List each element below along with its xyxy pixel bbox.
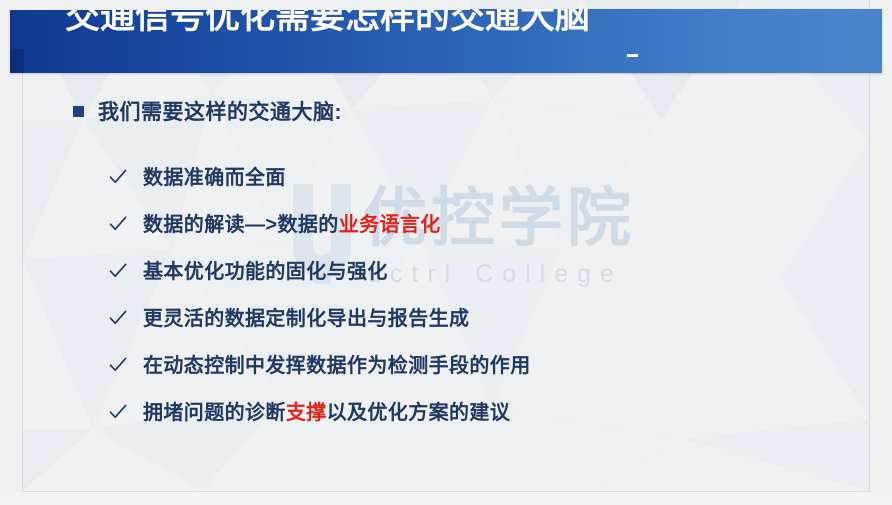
list-item: 基本优化功能的固化与强化 xyxy=(109,246,870,293)
check-icon xyxy=(109,168,127,186)
plain-text: 拥堵问题的诊断 xyxy=(143,402,286,424)
check-list: 数据准确而全面数据的解读—>数据的业务语言化基本优化功能的固化与强化更灵活的数据… xyxy=(23,152,870,434)
plain-text: 数据准确而全面 xyxy=(143,167,286,189)
list-item-label: 拥堵问题的诊断支撑以及优化方案的建议 xyxy=(143,396,510,425)
list-item: 数据准确而全面 xyxy=(109,152,870,199)
list-item-label: 基本优化功能的固化与强化 xyxy=(143,255,388,284)
emphasis-text: 支撑 xyxy=(286,402,327,424)
emphasis-text: 业务语言化 xyxy=(339,214,441,236)
slide-content: 我们需要这样的交通大脑: 数据准确而全面数据的解读—>数据的业务语言化基本优化功… xyxy=(23,96,870,434)
plain-text: 以及优化方案的建议 xyxy=(327,402,511,424)
list-item: 数据的解读—>数据的业务语言化 xyxy=(109,199,870,246)
list-item: 在动态控制中发挥数据作为检测手段的作用 xyxy=(109,340,870,387)
plain-text: 基本优化功能的固化与强化 xyxy=(143,261,388,283)
square-bullet-icon xyxy=(73,106,84,117)
title-trailing-dash-icon xyxy=(627,54,638,57)
check-icon xyxy=(109,356,127,374)
check-icon xyxy=(109,262,127,280)
list-item: 更灵活的数据定制化导出与报告生成 xyxy=(109,293,870,340)
title-left-notch xyxy=(10,49,24,73)
bottom-strip xyxy=(0,492,892,505)
heading-text: 我们需要这样的交通大脑: xyxy=(98,96,342,126)
list-item-label: 更灵活的数据定制化导出与报告生成 xyxy=(143,302,469,331)
plain-text: 更灵活的数据定制化导出与报告生成 xyxy=(143,308,469,330)
list-item: 拥堵问题的诊断支撑以及优化方案的建议 xyxy=(109,387,870,434)
list-item-label: 数据准确而全面 xyxy=(143,161,286,190)
page-title: 交通信号优化需要怎样的交通大脑 xyxy=(65,9,590,39)
plain-text: 在动态控制中发挥数据作为检测手段的作用 xyxy=(143,355,531,377)
plain-text: 数据的解读—>数据的 xyxy=(143,214,339,236)
slide-canvas: 优控学院 uctrl College 我们需要这样的交通大脑: 数据准确而全面数… xyxy=(22,0,870,492)
list-item-label: 数据的解读—>数据的业务语言化 xyxy=(143,208,441,237)
heading-row: 我们需要这样的交通大脑: xyxy=(73,96,870,126)
title-bar: 交通信号优化需要怎样的交通大脑 xyxy=(10,9,882,73)
title-top-clip-band xyxy=(0,0,470,10)
list-item-label: 在动态控制中发挥数据作为检测手段的作用 xyxy=(143,349,531,378)
check-icon xyxy=(109,215,127,233)
slide-root: 优控学院 uctrl College 我们需要这样的交通大脑: 数据准确而全面数… xyxy=(0,0,892,505)
check-icon xyxy=(109,403,127,421)
check-icon xyxy=(109,309,127,327)
